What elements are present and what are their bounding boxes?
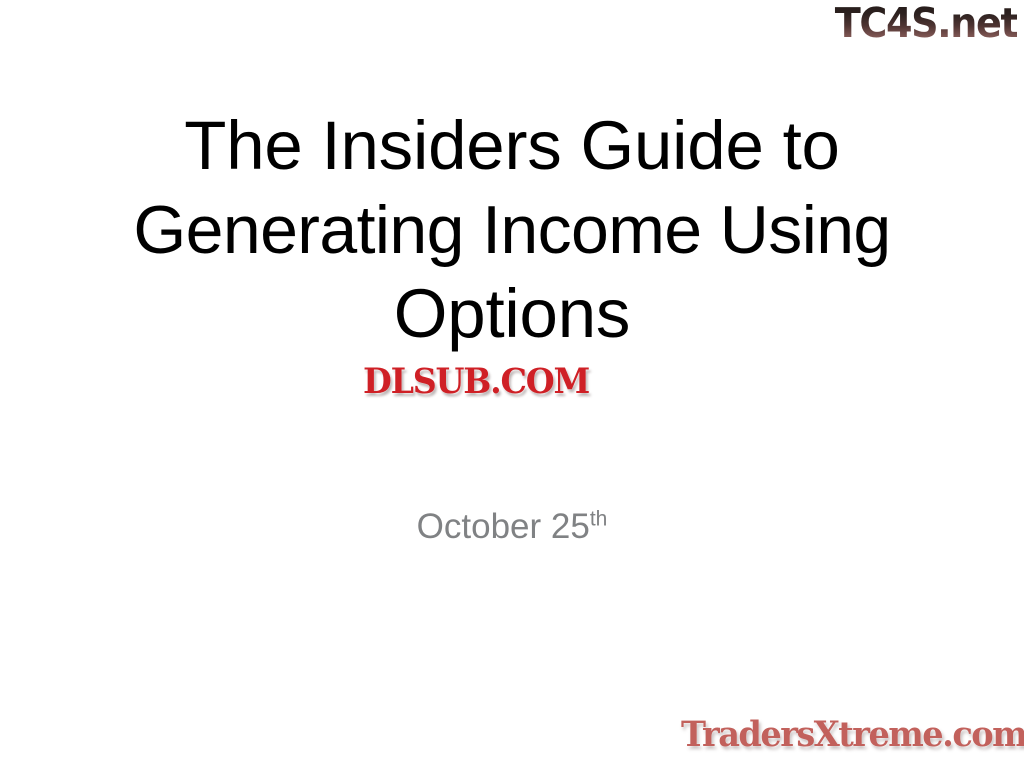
slide-title: The Insiders Guide to Generating Income … xyxy=(60,104,964,356)
tradersxtreme-watermark-logo: TradersXtreme.com xyxy=(681,714,1024,756)
subtitle-date: October 25th xyxy=(417,507,608,546)
dlsub-watermark-logo: DLSUB.COM xyxy=(363,363,589,401)
title-line-3: Options xyxy=(60,272,964,356)
title-line-2: Generating Income Using xyxy=(60,188,964,272)
presentation-slide: TC4S.net The Insiders Guide to Generatin… xyxy=(0,0,1024,768)
subtitle-ordinal-suffix: th xyxy=(590,507,608,530)
slide-subtitle: October 25th xyxy=(60,505,964,549)
tc4s-watermark-logo: TC4S.net xyxy=(834,1,1017,46)
subtitle-date-text: October 25 xyxy=(417,507,590,546)
title-line-1: The Insiders Guide to xyxy=(60,104,964,188)
